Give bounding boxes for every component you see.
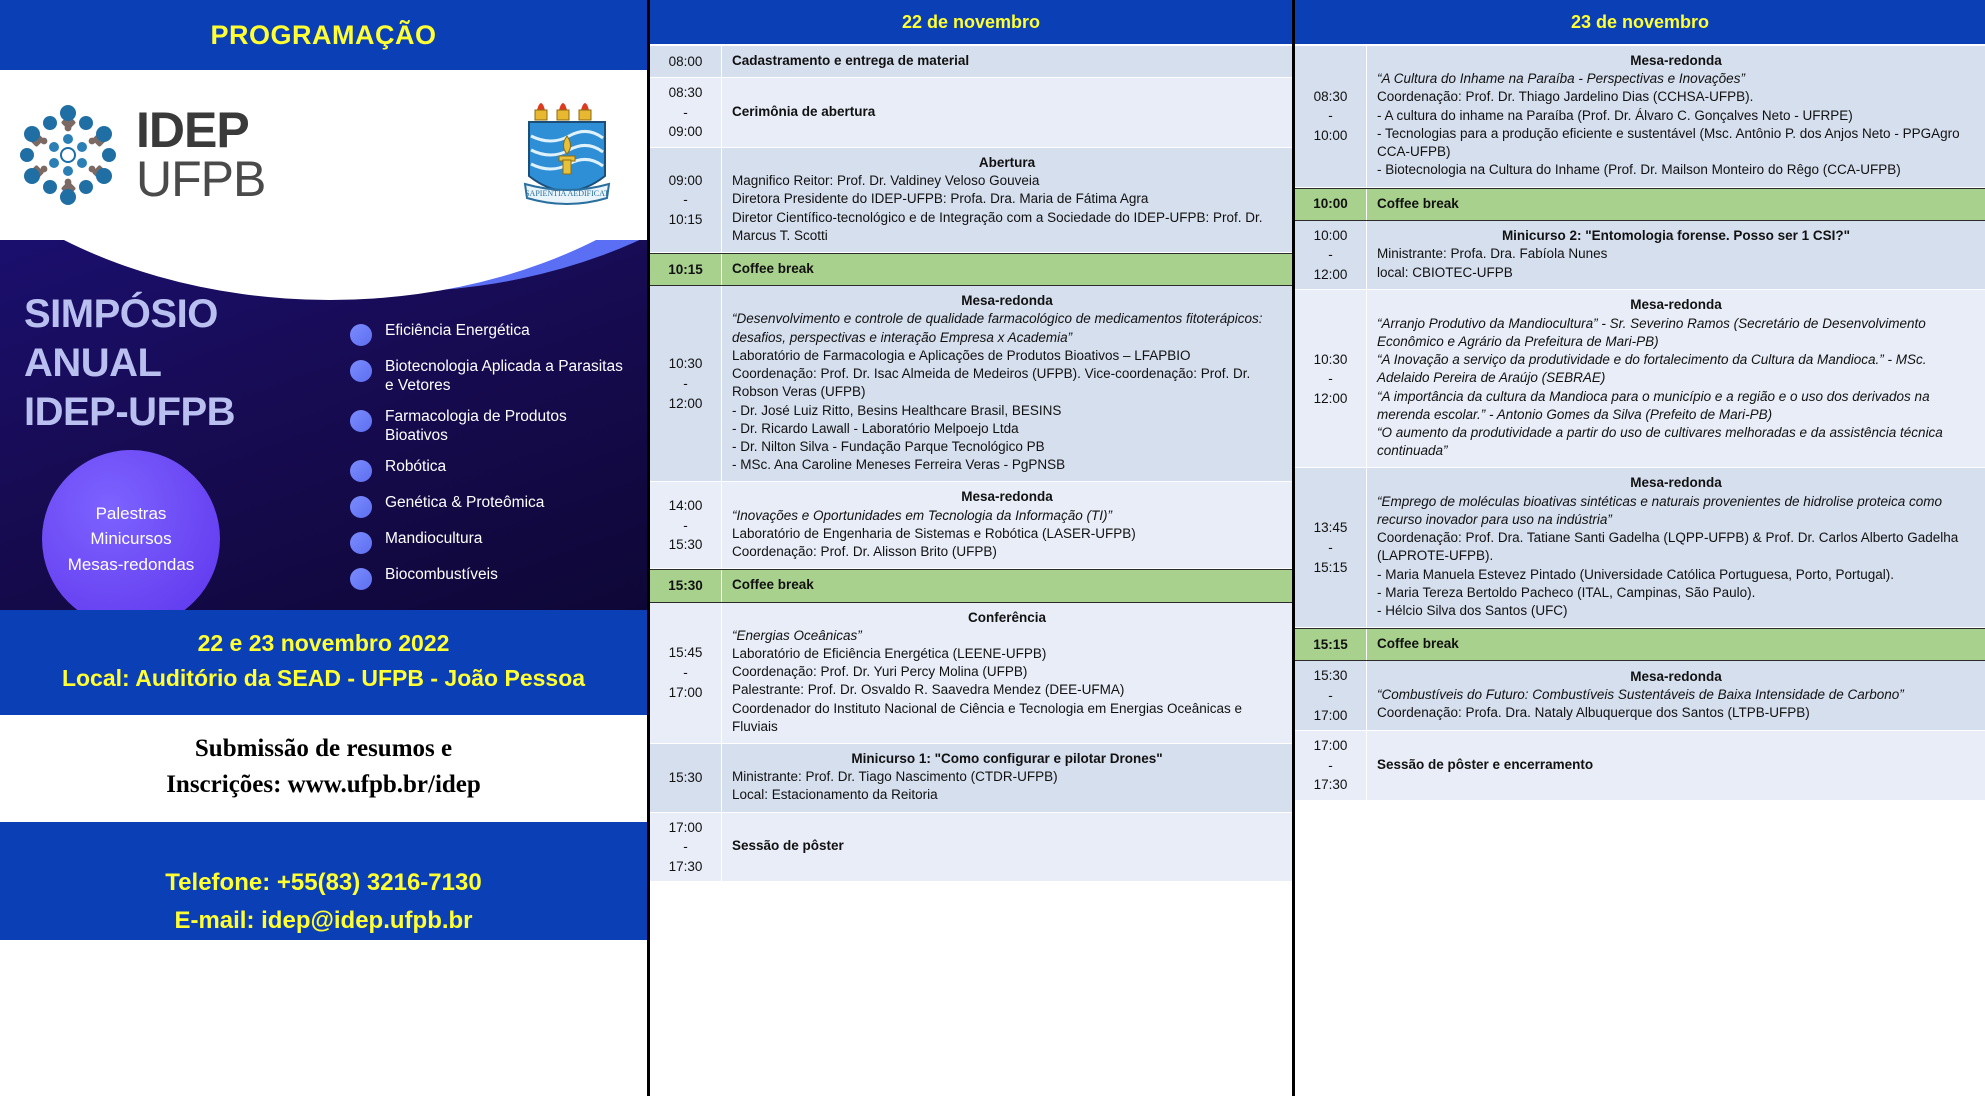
topic-label: Biotecnologia Aplicada a Parasitas e Vet… — [385, 358, 630, 396]
formats-bubble: Palestras Minicursos Mesas-redondas — [42, 450, 220, 610]
format-line-2: Minicursos — [90, 526, 171, 552]
topic-item: Robótica — [350, 458, 630, 482]
schedule-row-body: Coffee break — [722, 254, 1292, 285]
svg-text:SAPIENTIA AEDIFICAT: SAPIENTIA AEDIFICAT — [525, 189, 609, 198]
session-detail-line: Coffee break — [732, 576, 1282, 594]
time-part: - — [1328, 106, 1333, 126]
schedule-row-body: Coffee break — [1367, 189, 1985, 220]
schedule-row-time: 15:30-17:00 — [1295, 661, 1367, 730]
topic-label: Robótica — [385, 458, 446, 477]
session-detail-line: Cadastramento e entrega de material — [732, 52, 1282, 70]
topic-item: Biocombustíveis — [350, 566, 630, 590]
format-line-3: Mesas-redondas — [68, 552, 195, 578]
contact-phone: Telefone: +55(83) 3216-7130 — [0, 864, 647, 902]
time-part: - — [683, 516, 688, 536]
bullet-dot-icon — [350, 324, 372, 346]
event-poster-panel: PROGRAMAÇÃO — [0, 0, 650, 1096]
time-part: - — [683, 374, 688, 394]
schedule-row-body: Mesa-redonda“Arranjo Produtivo da Mandio… — [1367, 290, 1985, 467]
idep-logo: IDEP UFPB — [14, 101, 265, 209]
hero-title-line-3: IDEP-UFPB — [24, 388, 235, 437]
session-detail-line: “Desenvolvimento e controle de qualidade… — [732, 310, 1282, 346]
time-part: 15:15 — [1314, 558, 1348, 578]
topic-item: Eficiência Energética — [350, 322, 630, 346]
topic-item: Genética & Proteômica — [350, 494, 630, 518]
session-detail-line: Coordenador do Instituto Nacional de Ciê… — [732, 700, 1282, 736]
schedule-row-time: 10:30-12:00 — [650, 286, 722, 481]
session-detail-line: - Hélcio Silva dos Santos (UFC) — [1377, 602, 1975, 620]
session-detail-line: Ministrante: Prof. Dr. Tiago Nascimento … — [732, 768, 1282, 786]
time-part: 09:00 — [669, 171, 703, 191]
schedule-row: 17:00-17:30Sessão de pôster — [650, 813, 1292, 883]
schedule-row-time: 10:15 — [650, 254, 722, 285]
session-title: Abertura — [732, 154, 1282, 172]
session-title: Mesa-redonda — [732, 488, 1282, 506]
session-detail-line: Sessão de pôster e encerramento — [1377, 756, 1975, 774]
schedule-row: 10:30-12:00Mesa-redonda“Arranjo Produtiv… — [1295, 290, 1985, 468]
session-detail-line: Coordenação: Prof. Dr. Isac Almeida de M… — [732, 365, 1282, 401]
time-part: 17:00 — [669, 683, 703, 703]
session-detail-line: Coordenação: Prof. Dr. Thiago Jardelino … — [1377, 88, 1975, 106]
schedule-row-time: 15:45-17:00 — [650, 603, 722, 744]
idep-wordmark: IDEP UFPB — [136, 106, 265, 204]
session-detail-line: Local: Estacionamento da Reitoria — [732, 786, 1282, 804]
session-detail-line: Coordenação: Prof. Dra. Tatiane Santi Ga… — [1377, 529, 1975, 565]
time-part: 12:00 — [669, 394, 703, 414]
schedule-row-coffee-break: 15:30Coffee break — [650, 569, 1292, 602]
session-title: Mesa-redonda — [732, 292, 1282, 310]
topic-label: Eficiência Energética — [385, 322, 530, 341]
schedule-row: 08:00Cadastramento e entrega de material — [650, 46, 1292, 78]
schedule-row-body: Minicurso 2: "Entomologia forense. Posso… — [1367, 221, 1985, 290]
schedule-row-body: Sessão de pôster — [722, 813, 1292, 882]
schedule-row-time: 17:00-17:30 — [650, 813, 722, 882]
session-title: Mesa-redonda — [1377, 52, 1975, 70]
schedule-row-body: Mesa-redonda“A Cultura do Inhame na Para… — [1367, 46, 1985, 187]
time-part: 12:00 — [1314, 265, 1348, 285]
session-title: Conferência — [732, 609, 1282, 627]
schedule-row-coffee-break: 15:15Coffee break — [1295, 628, 1985, 661]
time-part: 15:30 — [1314, 666, 1348, 686]
topic-item: Farmacologia de Produtos Bioativos — [350, 408, 630, 446]
session-detail-line: Coordenação: Prof. Dr. Alisson Brito (UF… — [732, 543, 1282, 561]
idep-mandala-icon — [14, 101, 122, 209]
schedule-row-body: Mesa-redonda“Desenvolvimento e controle … — [722, 286, 1292, 481]
schedule-row-body: Mesa-redonda“Inovações e Oportunidades e… — [722, 482, 1292, 568]
submission-url[interactable]: Inscrições: www.ufpb.br/idep — [0, 767, 647, 803]
session-detail-line: Cerimônia de abertura — [732, 103, 1282, 121]
schedule-row: 15:30-17:00Mesa-redonda“Combustíveis do … — [1295, 661, 1985, 731]
schedule-row-body: Coffee break — [722, 570, 1292, 601]
day-header-22: 22 de novembro — [650, 0, 1292, 46]
time-part: 10:00 — [1314, 226, 1348, 246]
schedule-row: 09:00-10:15AberturaMagnifico Reitor: Pro… — [650, 148, 1292, 253]
time-part: - — [1328, 686, 1333, 706]
topic-item: Biotecnologia Aplicada a Parasitas e Vet… — [350, 358, 630, 396]
time-part: 17:30 — [669, 857, 703, 877]
session-title: Minicurso 2: "Entomologia forense. Posso… — [1377, 227, 1975, 245]
schedule-row-time: 10:30-12:00 — [1295, 290, 1367, 467]
session-detail-line: Coffee break — [1377, 635, 1975, 653]
session-detail-line: Diretor Científico-tecnológico e de Inte… — [732, 209, 1282, 245]
schedule-row-body: Minicurso 1: "Como configurar e pilotar … — [722, 744, 1292, 812]
session-detail-line: “A Inovação a serviço da produtividade e… — [1377, 351, 1975, 387]
session-detail-line: Coffee break — [732, 260, 1282, 278]
format-line-1: Palestras — [96, 501, 167, 527]
time-part: 08:30 — [669, 83, 703, 103]
time-part: 15:30 — [669, 768, 703, 788]
time-part: 14:00 — [669, 496, 703, 516]
hero-title: SIMPÓSIO ANUAL IDEP-UFPB — [24, 290, 235, 436]
session-detail-line: Ministrante: Profa. Dra. Fabíola Nunes — [1377, 245, 1975, 263]
time-part: 10:15 — [669, 210, 703, 230]
time-part: 10:30 — [1314, 350, 1348, 370]
session-detail-line: Diretora Presidente do IDEP-UFPB: Profa.… — [732, 190, 1282, 208]
session-detail-line: - MSc. Ana Caroline Meneses Ferreira Ver… — [732, 456, 1282, 474]
time-part: 15:30 — [669, 535, 703, 555]
schedule-row-time: 17:00-17:30 — [1295, 731, 1367, 800]
schedule-row-body: Conferência“Energias Oceânicas”Laboratór… — [722, 603, 1292, 744]
schedule-row: 10:00-12:00Minicurso 2: "Entomologia for… — [1295, 221, 1985, 291]
time-part: - — [1328, 245, 1333, 265]
event-location: Local: Auditório da SEAD - UFPB - João P… — [0, 661, 647, 696]
time-part: 15:45 — [669, 643, 703, 663]
schedule-row-time: 08:30-10:00 — [1295, 46, 1367, 187]
day-header-23: 23 de novembro — [1295, 0, 1985, 46]
session-detail-line: Laboratório de Farmacologia e Aplicações… — [732, 347, 1282, 365]
session-detail-line: Palestrante: Prof. Dr. Osvaldo R. Saaved… — [732, 681, 1282, 699]
time-part: 13:45 — [1314, 518, 1348, 538]
bullet-dot-icon — [350, 532, 372, 554]
session-detail-line: local: CBIOTEC-UFPB — [1377, 264, 1975, 282]
schedule-row-body: Mesa-redonda“Emprego de moléculas bioati… — [1367, 468, 1985, 627]
session-title: Mesa-redonda — [1377, 296, 1975, 314]
time-part: 09:00 — [669, 122, 703, 142]
time-part: 17:00 — [1314, 736, 1348, 756]
time-part: - — [683, 190, 688, 210]
topics-list: Eficiência Energética Biotecnologia Apli… — [350, 322, 630, 602]
hero-title-line-1: SIMPÓSIO — [24, 290, 235, 339]
time-part: 17:00 — [1314, 706, 1348, 726]
event-date-band: 22 e 23 novembro 2022 Local: Auditório d… — [0, 610, 647, 715]
event-dates: 22 e 23 novembro 2022 — [0, 626, 647, 661]
schedule-row-coffee-break: 10:00Coffee break — [1295, 188, 1985, 221]
session-detail-line: - Dr. Ricardo Lawall - Laboratório Melpo… — [732, 420, 1282, 438]
session-detail-line: - A cultura do inhame na Paraíba (Prof. … — [1377, 107, 1975, 125]
time-part: 15:30 — [668, 576, 703, 596]
schedule-row-time: 15:30 — [650, 570, 722, 601]
schedule-row-time: 13:45-15:15 — [1295, 468, 1367, 627]
session-title: Mesa-redonda — [1377, 474, 1975, 492]
time-part: 17:00 — [669, 818, 703, 838]
time-part: - — [683, 837, 688, 857]
time-part: 08:30 — [1314, 87, 1348, 107]
time-part: 10:00 — [1313, 194, 1348, 214]
schedule-row: 13:45-15:15Mesa-redonda“Emprego de moléc… — [1295, 468, 1985, 628]
schedule-row-time: 15:15 — [1295, 629, 1367, 660]
schedule-row: 08:30-09:00Cerimônia de abertura — [650, 78, 1292, 148]
idep-wordmark-line2: UFPB — [136, 155, 265, 204]
logo-band: IDEP UFPB — [0, 70, 647, 240]
time-part: 10:15 — [668, 260, 703, 280]
schedule-row-time: 09:00-10:15 — [650, 148, 722, 252]
topic-label: Biocombustíveis — [385, 566, 498, 585]
schedule-row-body: Cadastramento e entrega de material — [722, 46, 1292, 77]
schedule-row-time: 14:00-15:30 — [650, 482, 722, 568]
session-detail-line: “Energias Oceânicas” — [732, 627, 1282, 645]
poster-hero: SIMPÓSIO ANUAL IDEP-UFPB Palestras Minic… — [0, 240, 647, 610]
bullet-dot-icon — [350, 496, 372, 518]
schedule-row: 15:30Minicurso 1: "Como configurar e pil… — [650, 744, 1292, 813]
time-part: - — [1328, 538, 1333, 558]
topic-label: Mandiocultura — [385, 530, 482, 549]
contact-email[interactable]: E-mail: idep@idep.ufpb.br — [0, 902, 647, 940]
session-title: Mesa-redonda — [1377, 668, 1975, 686]
day-column-22: 22 de novembro 08:00Cadastramento e entr… — [650, 0, 1295, 1096]
session-detail-line: - Dr. Nilton Silva - Fundação Parque Tec… — [732, 438, 1282, 456]
time-part: 12:00 — [1314, 389, 1348, 409]
time-part: 17:30 — [1314, 775, 1348, 795]
schedule-row: 14:00-15:30Mesa-redonda“Inovações e Opor… — [650, 482, 1292, 569]
time-part: 10:00 — [1314, 126, 1348, 146]
schedule-rows-22: 08:00Cadastramento e entrega de material… — [650, 46, 1292, 1096]
session-detail-line: Coordenação: Profa. Dra. Nataly Albuquer… — [1377, 704, 1975, 722]
session-detail-line: “A importância da cultura da Mandioca pa… — [1377, 388, 1975, 424]
bullet-dot-icon — [350, 360, 372, 382]
schedule-row-time: 15:30 — [650, 744, 722, 812]
session-detail-line: Laboratório de Engenharia de Sistemas e … — [732, 525, 1282, 543]
hero-title-line-2: ANUAL — [24, 339, 235, 388]
session-detail-line: - Dr. José Luiz Ritto, Besins Healthcare… — [732, 402, 1282, 420]
time-part: - — [1328, 369, 1333, 389]
session-detail-line: “Emprego de moléculas bioativas sintétic… — [1377, 493, 1975, 529]
time-part: - — [1328, 756, 1333, 776]
schedule-row: 17:00-17:30Sessão de pôster e encerramen… — [1295, 731, 1985, 801]
schedule-row-coffee-break: 10:15Coffee break — [650, 253, 1292, 286]
schedule-row-time: 10:00-12:00 — [1295, 221, 1367, 290]
session-detail-line: - Biotecnologia na Cultura do Inhame (Pr… — [1377, 161, 1975, 179]
session-detail-line: “A Cultura do Inhame na Paraíba - Perspe… — [1377, 70, 1975, 88]
programacao-poster-page: PROGRAMAÇÃO — [0, 0, 1985, 1096]
time-part: 15:15 — [1313, 635, 1348, 655]
session-detail-line: “Inovações e Oportunidades em Tecnologia… — [732, 507, 1282, 525]
session-detail-line: “Combustíveis do Futuro: Combustíveis Su… — [1377, 686, 1975, 704]
time-part: 10:30 — [669, 354, 703, 374]
poster-title-bar: PROGRAMAÇÃO — [0, 0, 647, 70]
schedule-row-body: Cerimônia de abertura — [722, 78, 1292, 147]
ufpb-crest-icon: SAPIENTIA AEDIFICAT — [521, 84, 613, 224]
schedule-row-body: Mesa-redonda“Combustíveis do Futuro: Com… — [1367, 661, 1985, 730]
submission-band: Submissão de resumos e Inscrições: www.u… — [0, 715, 647, 822]
schedule-row-time: 08:30-09:00 — [650, 78, 722, 147]
session-detail-line: - Maria Tereza Bertoldo Pacheco (ITAL, C… — [1377, 584, 1975, 602]
schedule-row-time: 10:00 — [1295, 189, 1367, 220]
session-title: Minicurso 1: "Como configurar e pilotar … — [732, 750, 1282, 768]
session-detail-line: Coffee break — [1377, 195, 1975, 213]
session-detail-line: Magnifico Reitor: Prof. Dr. Valdiney Vel… — [732, 172, 1282, 190]
topic-label: Farmacologia de Produtos Bioativos — [385, 408, 630, 446]
schedule-row: 10:30-12:00Mesa-redonda“Desenvolvimento … — [650, 286, 1292, 482]
topic-label: Genética & Proteômica — [385, 494, 544, 513]
session-detail-line: “Arranjo Produtivo da Mandiocultura” - S… — [1377, 315, 1975, 351]
schedule-row-body: Sessão de pôster e encerramento — [1367, 731, 1985, 800]
day-column-23: 23 de novembro 08:30-10:00Mesa-redonda“A… — [1295, 0, 1985, 1096]
schedule-row-time: 08:00 — [650, 46, 722, 77]
bullet-dot-icon — [350, 410, 372, 432]
contact-band: Telefone: +55(83) 3216-7130 E-mail: idep… — [0, 822, 647, 941]
session-detail-line: Coordenação: Prof. Dr. Yuri Percy Molina… — [732, 663, 1282, 681]
bullet-dot-icon — [350, 568, 372, 590]
session-detail-line: - Tecnologias para a produção eficiente … — [1377, 125, 1975, 161]
session-detail-line: Laboratório de Eficiência Energética (LE… — [732, 645, 1282, 663]
session-detail-line: Sessão de pôster — [732, 837, 1282, 855]
time-part: - — [683, 103, 688, 123]
schedule-row: 08:30-10:00Mesa-redonda“A Cultura do Inh… — [1295, 46, 1985, 188]
schedule-row-body: Coffee break — [1367, 629, 1985, 660]
submission-line-1: Submissão de resumos e — [0, 731, 647, 767]
schedule-rows-23: 08:30-10:00Mesa-redonda“A Cultura do Inh… — [1295, 46, 1985, 1096]
idep-wordmark-line1: IDEP — [136, 106, 265, 155]
bullet-dot-icon — [350, 460, 372, 482]
schedule-area: 22 de novembro 08:00Cadastramento e entr… — [650, 0, 1985, 1096]
session-detail-line: - Maria Manuela Estevez Pintado (Univers… — [1377, 566, 1975, 584]
page-title: PROGRAMAÇÃO — [211, 20, 437, 51]
schedule-row: 15:45-17:00Conferência“Energias Oceânica… — [650, 603, 1292, 745]
session-detail-line: “O aumento da produtividade a partir do … — [1377, 424, 1975, 460]
topic-item: Mandiocultura — [350, 530, 630, 554]
time-part: 08:00 — [669, 52, 703, 72]
schedule-row-body: AberturaMagnifico Reitor: Prof. Dr. Vald… — [722, 148, 1292, 252]
time-part: - — [683, 663, 688, 683]
